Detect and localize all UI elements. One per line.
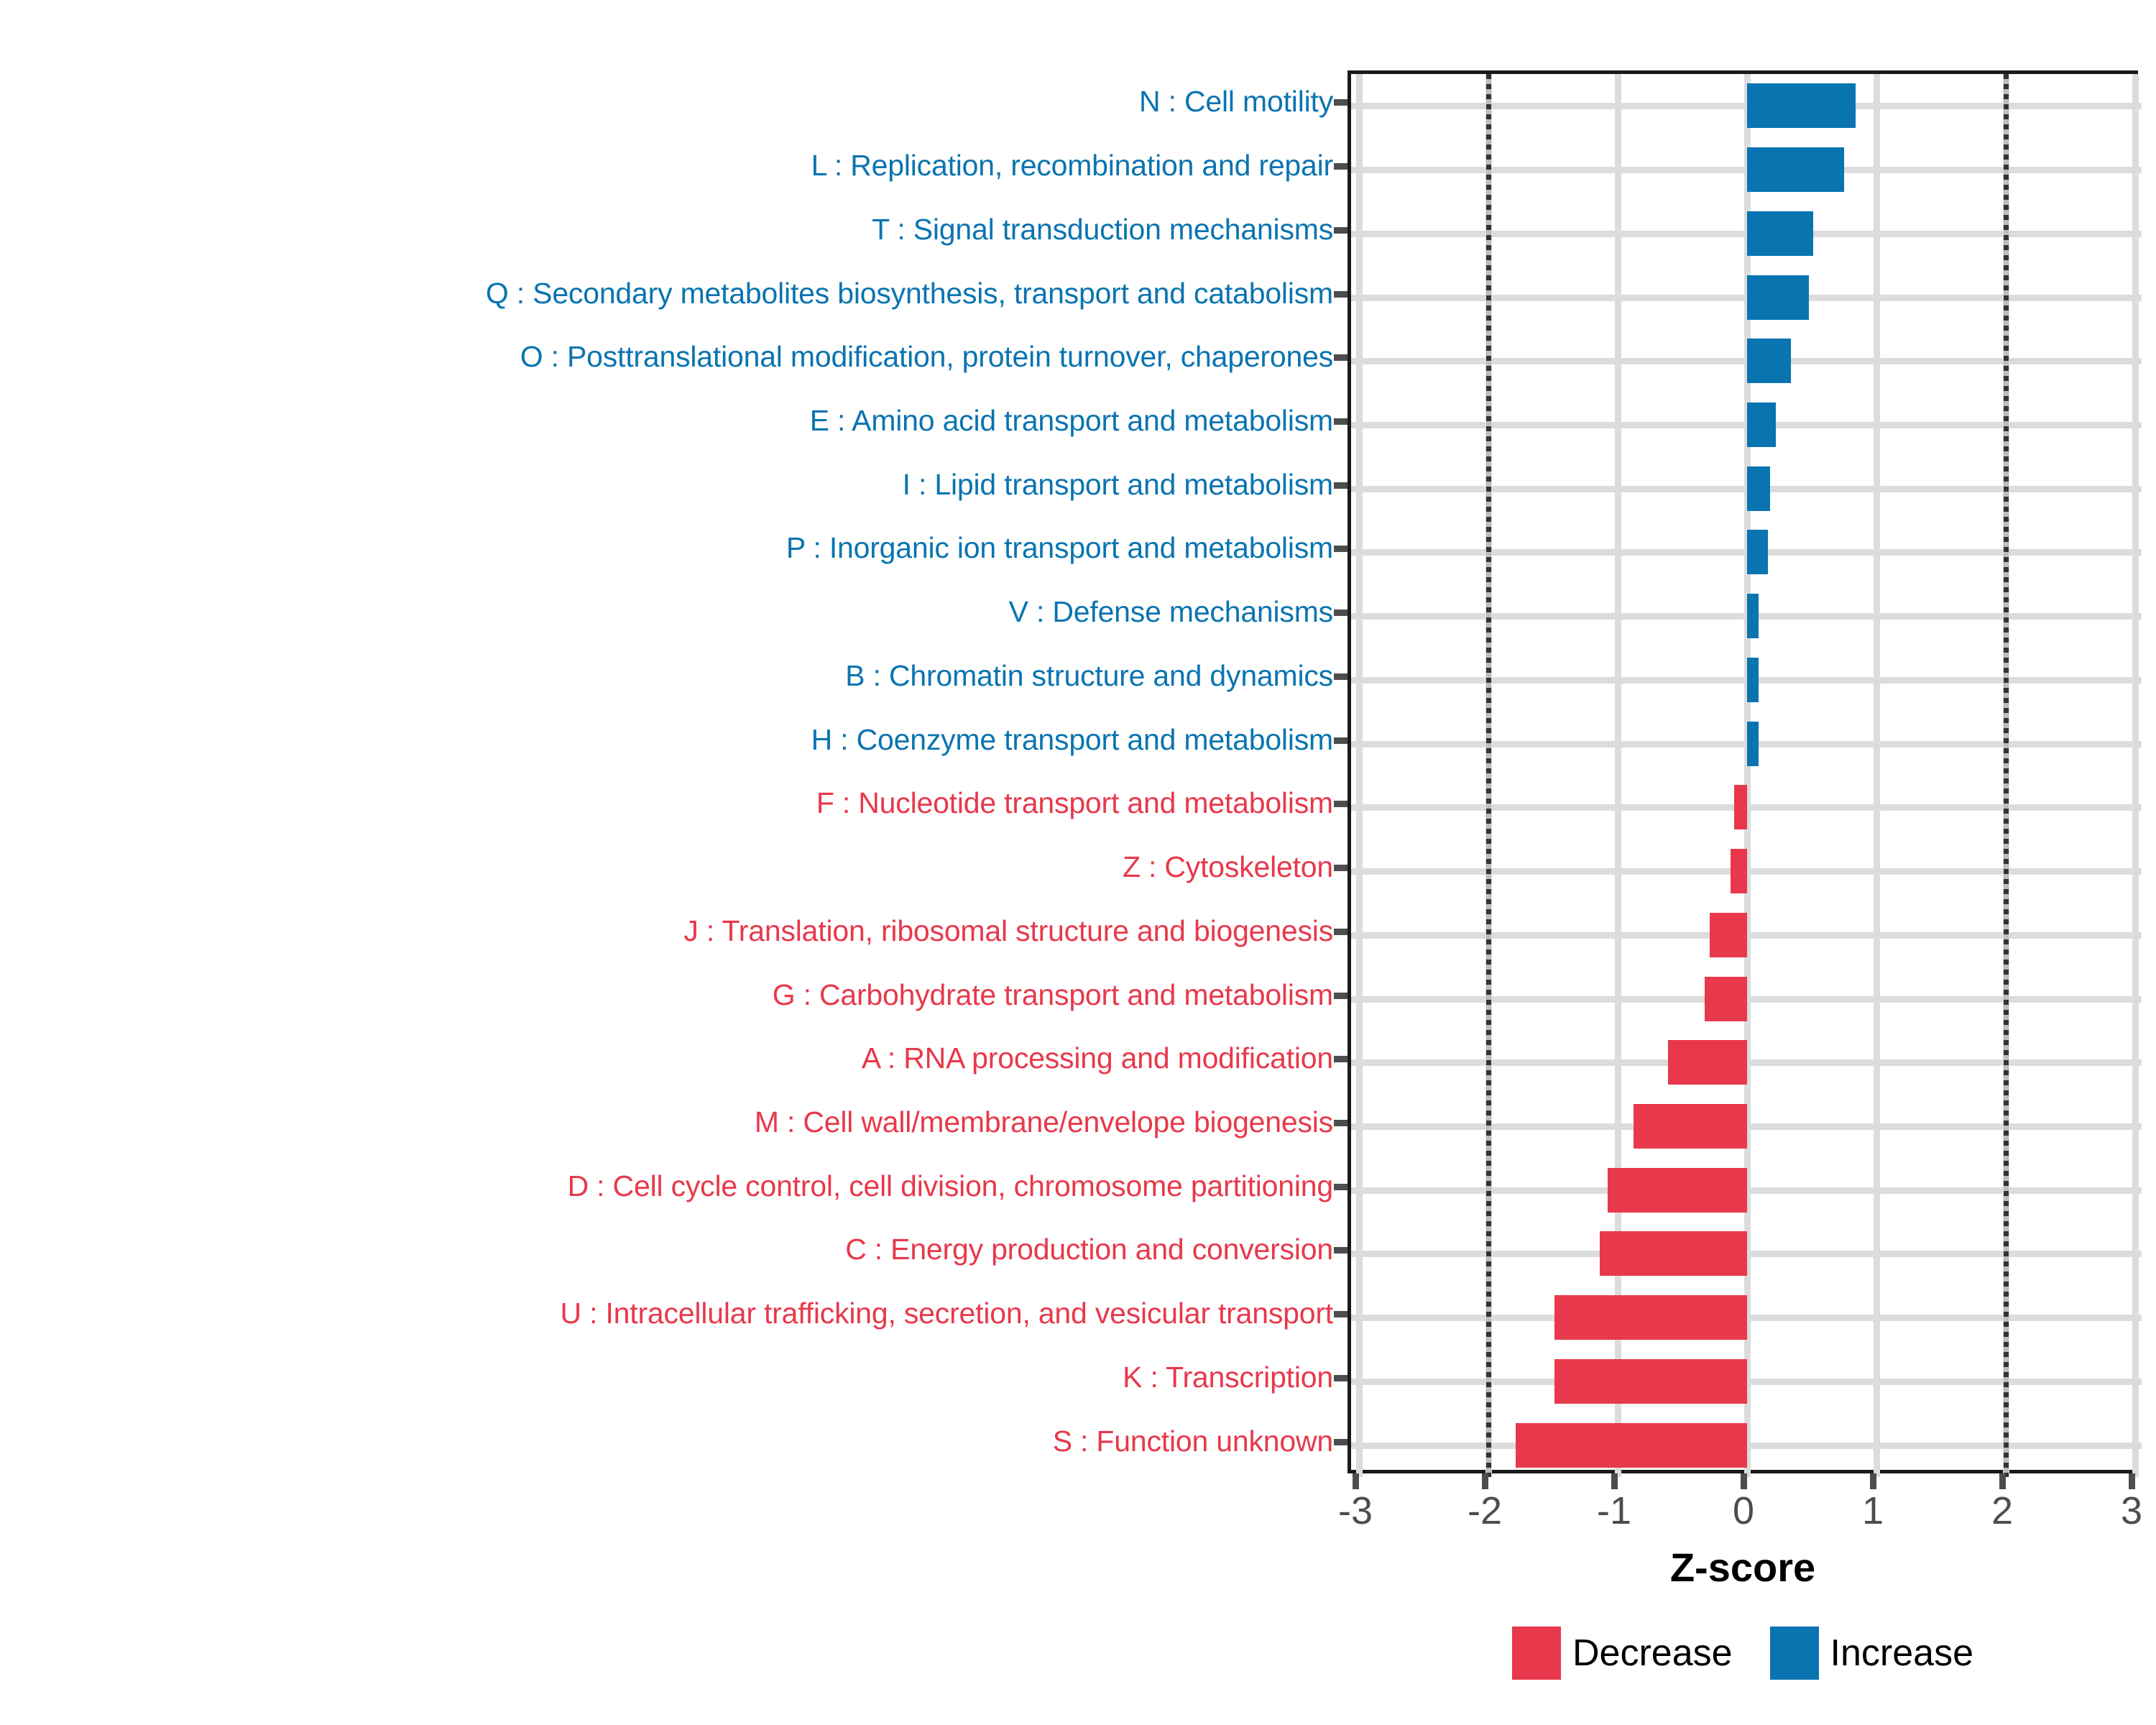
y-axis-category-label: J : Translation, ribosomal structure and…: [0, 916, 1333, 946]
y-axis-category-label: D : Cell cycle control, cell division, c…: [0, 1172, 1333, 1201]
x-axis-tick-mark: [2129, 1473, 2135, 1489]
vertical-gridline: [2132, 74, 2139, 1477]
plot-panel: [1347, 70, 2138, 1473]
y-axis-tick-mark: [1334, 673, 1347, 680]
y-axis-category-label: L : Replication, recombination and repai…: [0, 151, 1333, 180]
bar: [1734, 785, 1747, 829]
y-axis-tick-mark: [1334, 1184, 1347, 1190]
y-axis-tick-mark: [1334, 1375, 1347, 1381]
y-axis-tick-mark: [1334, 1120, 1347, 1126]
y-axis-tick-mark: [1334, 1056, 1347, 1062]
y-axis-category-labels: N : Cell motilityL : Replication, recomb…: [0, 70, 1333, 1473]
bar: [1634, 1104, 1747, 1149]
horizontal-gridline: [1351, 486, 2142, 492]
bar: [1747, 658, 1759, 702]
bar: [1747, 211, 1813, 256]
y-axis-category-label: F : Nucleotide transport and metabolism: [0, 788, 1333, 818]
x-axis-tick-mark: [1870, 1473, 1876, 1489]
x-axis-tick-label: 3: [2074, 1491, 2156, 1531]
y-axis-tick-mark: [1334, 1247, 1347, 1253]
y-axis-tick-mark: [1334, 418, 1347, 425]
x-axis-tick-mark: [1482, 1473, 1488, 1489]
legend-item[interactable]: Decrease: [1512, 1627, 1733, 1680]
y-axis-category-label: P : Inorganic ion transport and metaboli…: [0, 533, 1333, 563]
bar: [1747, 402, 1776, 447]
reference-line: [2004, 74, 2009, 1477]
bar: [1516, 1423, 1747, 1468]
x-axis-tick-label: 2: [1945, 1491, 2060, 1531]
horizontal-gridline: [1351, 741, 2142, 747]
x-axis-ticks: [1347, 1473, 2138, 1489]
x-axis-title: Z-score: [1347, 1544, 2138, 1591]
vertical-gridline: [1874, 74, 1880, 1477]
y-axis-category-label: T : Signal transduction mechanisms: [0, 215, 1333, 244]
y-axis-tick-mark: [1334, 929, 1347, 935]
bar: [1747, 530, 1768, 574]
y-axis-category-label: Z : Cytoskeleton: [0, 852, 1333, 882]
y-axis-category-label: A : RNA processing and modification: [0, 1044, 1333, 1073]
y-axis-category-label: G : Carbohydrate transport and metabolis…: [0, 980, 1333, 1010]
y-axis-category-label: H : Coenzyme transport and metabolism: [0, 725, 1333, 755]
vertical-gridline: [1356, 74, 1363, 1477]
bar: [1747, 339, 1791, 383]
y-axis-tick-mark: [1334, 227, 1347, 234]
x-axis-tick-mark: [1741, 1473, 1747, 1489]
y-axis-tick-mark: [1334, 609, 1347, 616]
y-axis-tick-mark: [1334, 99, 1347, 106]
y-axis-category-label: Q : Secondary metabolites biosynthesis, …: [0, 279, 1333, 308]
y-axis-tick-mark: [1334, 865, 1347, 871]
bar: [1600, 1231, 1747, 1276]
bar: [1747, 466, 1770, 511]
y-axis-tick-mark: [1334, 1439, 1347, 1445]
y-axis-tick-mark: [1334, 482, 1347, 489]
y-axis-category-label: M : Cell wall/membrane/envelope biogenes…: [0, 1108, 1333, 1137]
x-axis-tick-label: 1: [1815, 1491, 1930, 1531]
x-axis-tick-label: -1: [1557, 1491, 1672, 1531]
x-axis-tick-mark: [1611, 1473, 1618, 1489]
chart-legend: DecreaseIncrease: [1347, 1621, 2138, 1685]
cog-zscore-bar-chart: N : Cell motilityL : Replication, recomb…: [0, 0, 2156, 1725]
x-axis-tick-label: -2: [1427, 1491, 1542, 1531]
legend-swatch-decrease: [1512, 1627, 1561, 1680]
y-axis-category-label: I : Lipid transport and metabolism: [0, 470, 1333, 500]
y-axis-tick-mark: [1334, 993, 1347, 999]
bar: [1747, 594, 1759, 638]
legend-label: Decrease: [1572, 1634, 1733, 1672]
bar: [1747, 83, 1856, 128]
legend-swatch-increase: [1770, 1627, 1819, 1680]
bar: [1747, 275, 1809, 320]
bar: [1554, 1295, 1747, 1340]
horizontal-gridline: [1351, 613, 2142, 620]
legend-label: Increase: [1830, 1634, 1973, 1672]
legend-item[interactable]: Increase: [1770, 1627, 1973, 1680]
y-axis-category-label: C : Energy production and conversion: [0, 1235, 1333, 1264]
y-axis-category-label: B : Chromatin structure and dynamics: [0, 661, 1333, 691]
y-axis-category-label: V : Defense mechanisms: [0, 597, 1333, 627]
x-axis-tick-label: 0: [1686, 1491, 1801, 1531]
y-axis-tick-mark: [1334, 1311, 1347, 1317]
horizontal-gridline: [1351, 677, 2142, 684]
y-axis-category-label: U : Intracellular trafficking, secretion…: [0, 1299, 1333, 1328]
horizontal-gridline: [1351, 549, 2142, 556]
bar: [1705, 977, 1747, 1021]
x-axis-tick-mark: [1999, 1473, 2006, 1489]
y-axis-category-label: S : Function unknown: [0, 1427, 1333, 1456]
bar: [1710, 913, 1747, 957]
horizontal-gridline: [1351, 167, 2142, 173]
y-axis-tick-mark: [1334, 801, 1347, 807]
horizontal-gridline: [1351, 295, 2142, 301]
reference-line: [1486, 74, 1491, 1477]
y-axis-category-label: K : Transcription: [0, 1363, 1333, 1392]
horizontal-gridline: [1351, 103, 2142, 109]
bar: [1668, 1040, 1747, 1085]
bar: [1554, 1359, 1747, 1404]
y-axis-category-label: O : Posttranslational modification, prot…: [0, 342, 1333, 372]
y-axis-category-label: N : Cell motility: [0, 87, 1333, 116]
horizontal-gridline: [1351, 231, 2142, 237]
y-axis-category-label: E : Amino acid transport and metabolism: [0, 406, 1333, 436]
x-axis-tick-label: -3: [1298, 1491, 1413, 1531]
x-axis-tick-labels: -3-2-10123: [1347, 1491, 2138, 1534]
x-axis-tick-mark: [1353, 1473, 1359, 1489]
horizontal-gridline: [1351, 422, 2142, 428]
y-axis-tick-mark: [1334, 354, 1347, 361]
bar: [1747, 722, 1759, 766]
y-axis-tick-mark: [1334, 163, 1347, 170]
bar: [1608, 1168, 1747, 1213]
bar: [1731, 849, 1747, 893]
horizontal-gridline: [1351, 358, 2142, 364]
y-axis-tick-mark: [1334, 291, 1347, 298]
bar: [1747, 147, 1844, 192]
y-axis-tick-mark: [1334, 546, 1347, 552]
plot-area: [1351, 74, 2142, 1477]
y-axis-tick-mark: [1334, 737, 1347, 744]
